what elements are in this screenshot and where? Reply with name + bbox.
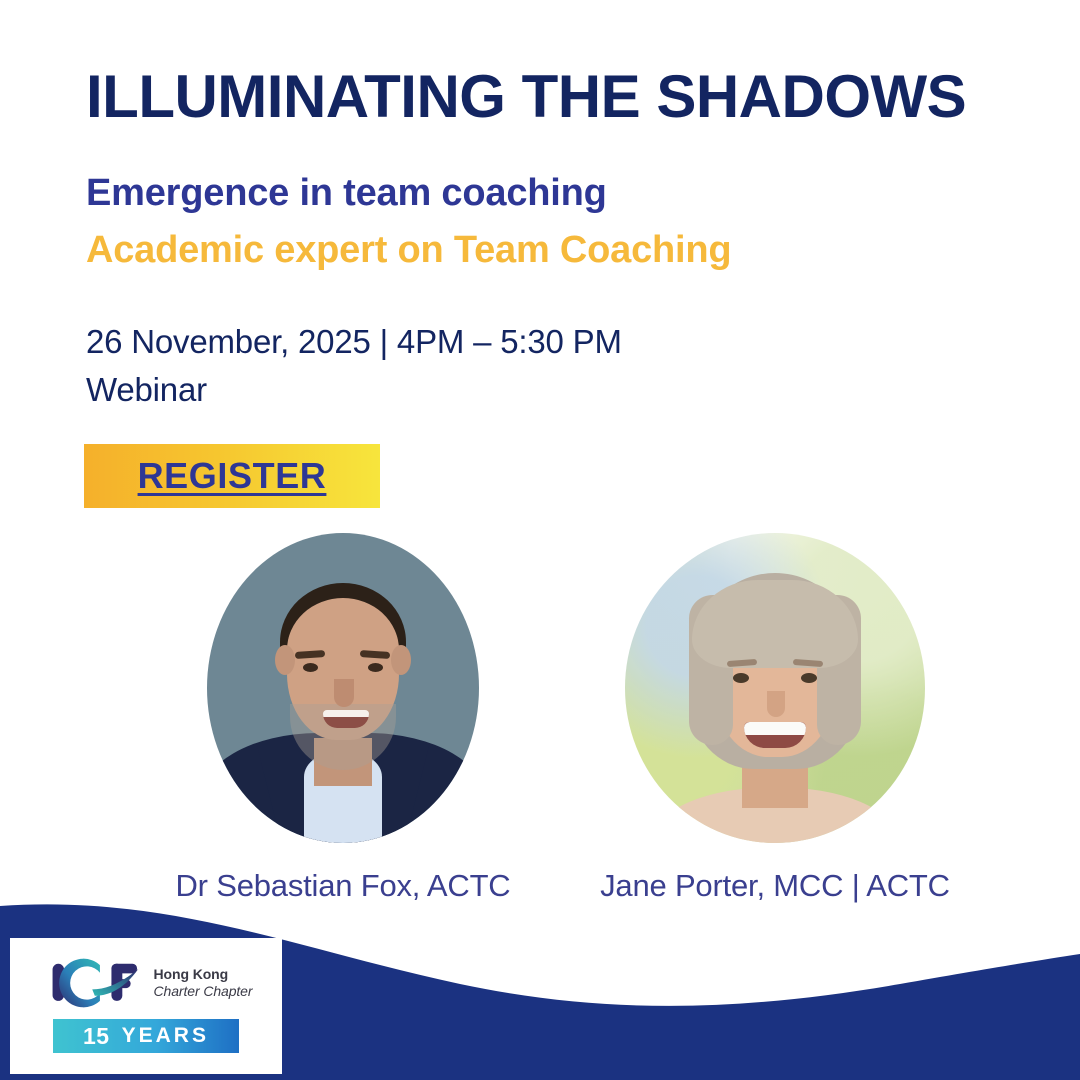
anniversary-number: 15 xyxy=(83,1023,110,1050)
speaker-card-2: Jane Porter, MCC | ACTC xyxy=(560,533,990,904)
icf-chapter-text: Hong Kong Charter Chapter xyxy=(154,966,253,999)
page-title: ILLUMINATING THE SHADOWS xyxy=(86,66,1046,128)
eye-right-shape xyxy=(801,673,817,683)
icf-logo-card: Hong Kong Charter Chapter 15 YEARS xyxy=(10,938,282,1074)
hair-fringe-shape xyxy=(692,580,858,668)
ear-left-shape xyxy=(275,645,295,675)
page-subtitle: Emergence in team coaching xyxy=(86,172,1046,215)
webinar-flyer: ILLUMINATING THE SHADOWS Emergence in te… xyxy=(0,0,1080,1080)
eye-left-shape xyxy=(733,673,749,683)
teeth-shape xyxy=(744,722,806,735)
event-datetime: 26 November, 2025 | 4PM – 5:30 PM xyxy=(86,318,906,366)
anniversary-badge: 15 YEARS xyxy=(53,1019,239,1053)
icf-logo-top: Hong Kong Charter Chapter xyxy=(50,957,253,1009)
icf-wordmark-icon xyxy=(50,957,146,1009)
chapter-city-label: Hong Kong xyxy=(154,966,253,983)
speaker-card-1: Dr Sebastian Fox, ACTC xyxy=(128,533,558,904)
mouth-shape xyxy=(744,722,806,748)
nose-shape xyxy=(767,691,785,717)
mouth-shape xyxy=(323,710,369,728)
event-format: Webinar xyxy=(86,366,906,414)
chapter-type-label: Charter Chapter xyxy=(154,983,253,1000)
ear-right-shape xyxy=(391,645,411,675)
event-details: 26 November, 2025 | 4PM – 5:30 PM Webina… xyxy=(86,318,906,414)
portrait-sebastian-fox xyxy=(207,533,479,843)
nose-shape xyxy=(334,679,354,707)
headline-block: ILLUMINATING THE SHADOWS Emergence in te… xyxy=(86,66,1046,271)
portrait-jane-porter xyxy=(625,533,925,843)
register-button-label: REGISTER xyxy=(138,455,327,497)
page-tagline: Academic expert on Team Coaching xyxy=(86,229,1046,272)
neck-shape xyxy=(742,762,808,808)
register-button[interactable]: REGISTER xyxy=(84,444,380,508)
anniversary-label: YEARS xyxy=(122,1024,209,1048)
